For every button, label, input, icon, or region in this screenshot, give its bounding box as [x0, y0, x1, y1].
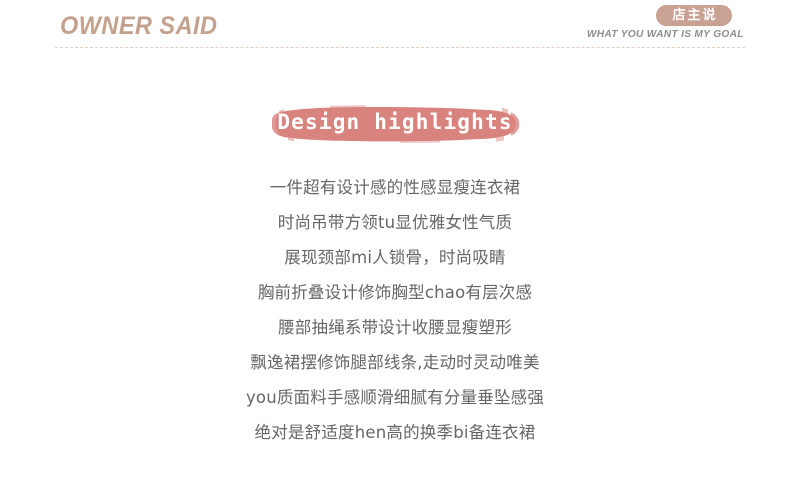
highlight-line: you质面料手感顺滑细腻有分量垂坠感强	[0, 380, 790, 415]
highlight-line: 展现颈部mi人锁骨，时尚吸睛	[0, 240, 790, 275]
page-title: OWNER SAID	[60, 12, 217, 41]
highlight-line: 胸前折叠设计修饰胸型chao有层次感	[0, 275, 790, 310]
shop-owner-badge-label: 店主说	[670, 9, 717, 22]
highlight-line: 腰部抽绳系带设计收腰显瘦塑形	[0, 310, 790, 345]
brush-stroke-shape: Design highlights	[270, 103, 520, 143]
highlight-line: 绝对是舒适度hen高的换季bi备连衣裙	[0, 415, 790, 450]
header-dashed-divider	[55, 47, 745, 48]
header-tagline: WHAT YOU WANT IS MY GOAL	[587, 28, 744, 40]
highlight-line: 时尚吊带方领tu显优雅女性气质	[0, 205, 790, 240]
page-header: OWNER SAID 店主说 WHAT YOU WANT IS MY GOAL	[0, 0, 790, 56]
highlight-line: 飘逸裙摆修饰腿部线条,走动时灵动唯美	[0, 345, 790, 380]
highlights-list: 一件超有设计感的性感显瘦连衣裙 时尚吊带方领tu显优雅女性气质 展现颈部mi人锁…	[0, 170, 790, 450]
shop-owner-badge: 店主说	[656, 5, 732, 26]
highlight-line: 一件超有设计感的性感显瘦连衣裙	[0, 170, 790, 205]
banner-title: Design highlights	[277, 112, 512, 134]
design-highlights-banner: Design highlights	[0, 100, 790, 146]
